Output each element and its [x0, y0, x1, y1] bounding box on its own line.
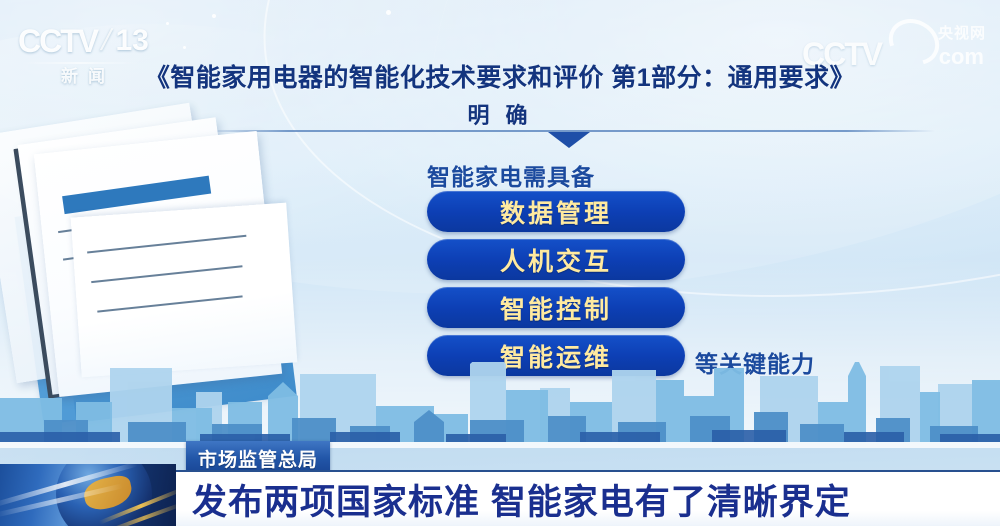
- capability-list-caption: 智能家电需具备: [427, 158, 595, 192]
- document-text-line: [87, 235, 246, 254]
- headline-text: 发布两项国家标准 智能家电有了清晰界定: [170, 474, 851, 525]
- broadcast-graphic-stage: CCTV / 13 新闻 央视网 CCTV com 《智能家用电器的智能化技术要…: [0, 0, 1000, 526]
- source-tag-label: 市场监管总局: [198, 450, 318, 471]
- document-text-line: [97, 295, 242, 312]
- cctv-slash-icon: /: [98, 26, 114, 56]
- watermark-cn-label: 央视网: [938, 22, 986, 43]
- globe-icon: [0, 464, 176, 526]
- sparkle-dot: [166, 22, 169, 25]
- page-title: 《智能家用电器的智能化技术要求和评价 第1部分：通用要求》: [0, 58, 1000, 94]
- capability-pill-label: 数据管理: [500, 194, 612, 230]
- headline-bar: 发布两项国家标准 智能家电有了清晰界定: [170, 470, 1000, 526]
- down-arrow-icon: [548, 132, 590, 148]
- cctv-channel-number: 13: [115, 26, 148, 56]
- document-title-bar: [62, 176, 211, 214]
- cctv-logo-row: CCTV / 13: [18, 22, 150, 60]
- sparkle-dot: [183, 46, 186, 49]
- sparkle-dot: [386, 10, 391, 15]
- capability-pill-label: 人机交互: [500, 242, 612, 278]
- document-text-line: [91, 265, 242, 283]
- capability-pill-human-machine-interaction[interactable]: 人机交互: [427, 239, 685, 280]
- document-top-sheet: [71, 203, 298, 378]
- city-skyline-icon: [0, 362, 1000, 442]
- capability-pill-label: 智能控制: [500, 290, 612, 326]
- cctv-wordmark: CCTV: [18, 25, 97, 57]
- sparkle-dot: [212, 14, 216, 18]
- capability-pill-data-management[interactable]: 数据管理: [427, 191, 685, 232]
- capability-pill-intelligent-control[interactable]: 智能控制: [427, 287, 685, 328]
